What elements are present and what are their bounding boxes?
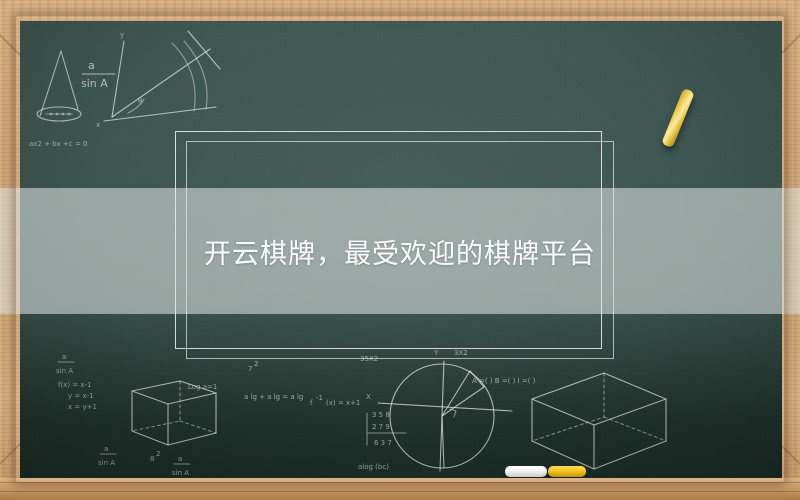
svg-text:sin A: sin A (81, 77, 108, 90)
ledge-groove-upper (0, 482, 800, 483)
svg-text:a: a (104, 445, 108, 453)
svg-text:a: a (88, 59, 95, 72)
svg-text:sin A: sin A (56, 367, 73, 375)
banner-headline: 开云棋牌，最受欢迎的棋牌平台 (0, 188, 800, 314)
svg-text:y = x-1: y = x-1 (68, 392, 94, 400)
circle-with-radii: Y X (366, 349, 512, 471)
ledge-yellow-chalk-icon (548, 466, 586, 477)
svg-text:3 5 8: 3 5 8 (372, 411, 390, 419)
svg-text:8: 8 (150, 455, 154, 463)
svg-text:(x) = x+1: (x) = x+1 (326, 399, 360, 407)
svg-text:2 7 9: 2 7 9 (372, 423, 390, 431)
svg-text:a: a (62, 353, 66, 361)
svg-text:f(x) = x-1: f(x) = x-1 (58, 381, 92, 389)
chalk-ledge (0, 478, 800, 500)
svg-text:a: a (178, 455, 182, 463)
svg-text:-1: -1 (316, 394, 323, 402)
svg-text:7: 7 (248, 365, 252, 373)
svg-text:2: 2 (156, 450, 160, 458)
svg-text:x = y+1: x = y+1 (68, 403, 97, 411)
svg-text:6 3 7: 6 3 7 (374, 439, 392, 447)
wireframe-cube-left (132, 381, 216, 445)
svg-text:Log a=1: Log a=1 (188, 383, 217, 391)
svg-text:θ: θ (138, 97, 142, 105)
wireframe-cube-right (532, 373, 666, 469)
svg-text:f: f (310, 399, 313, 407)
chalk-group-bottom-right: f -1 (x) = x+1 alog (bc) Log a=1 3 5 8 2… (188, 349, 666, 471)
svg-text:sin A: sin A (172, 469, 189, 477)
svg-text:ax2 + bx +c = 0: ax2 + bx +c = 0 (29, 140, 88, 148)
chalkboard-banner: a sin A ax2 + bx +c = 0 y x θ (0, 0, 800, 500)
svg-text:X: X (366, 393, 371, 401)
svg-text:sin A: sin A (98, 459, 115, 467)
svg-text:a lg + a lg = a lg: a lg + a lg = a lg (244, 393, 303, 401)
svg-text:y: y (120, 31, 124, 39)
svg-text:A =( ) B =( ) I =( ): A =( ) B =( ) I =( ) (472, 377, 536, 385)
ledge-white-chalk-icon (505, 466, 547, 477)
chalk-group-bottom-center: a sin A f(x) = x-1 y = x-1 x = y+1 (56, 353, 303, 477)
svg-text:alog (bc): alog (bc) (358, 463, 389, 471)
svg-text:x: x (96, 121, 100, 129)
svg-text:2: 2 (254, 360, 258, 368)
ledge-groove-lower (0, 491, 800, 492)
